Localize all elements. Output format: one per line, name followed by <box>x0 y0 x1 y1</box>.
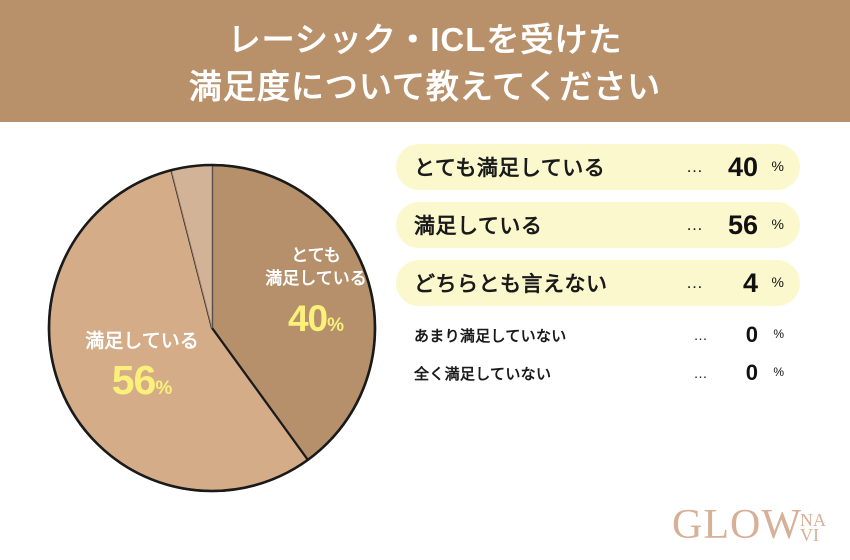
legend-label-neutral: どちらとも言えない <box>414 268 678 298</box>
legend-unit-very-satisfied: % <box>758 158 784 176</box>
pie-slices <box>49 165 375 491</box>
brand-logo-navi-mark: NA VI <box>800 513 826 543</box>
legend-unit-satisfied: % <box>758 216 784 234</box>
legend-unit-not-satisfied-at-all: % <box>758 365 784 381</box>
legend-value-very-satisfied: 40 <box>712 152 758 183</box>
legend-row-not-very-satisfied: あまり満足していない … 0 % <box>396 318 800 352</box>
brand-logo-navi-bottom: VI <box>800 528 826 543</box>
legend-dots-satisfied: … <box>678 215 712 235</box>
legend-label-very-satisfied: とても満足している <box>414 152 678 182</box>
legend-label-not-satisfied-at-all: 全く満足していない <box>414 363 684 384</box>
header-title-line1: レーシック・ICLを受けた <box>228 16 623 63</box>
header-banner: レーシック・ICLを受けた 満足度について教えてください <box>0 0 850 122</box>
legend-label-satisfied: 満足している <box>414 210 678 240</box>
legend-row-very-satisfied: とても満足している … 40 % <box>396 144 800 190</box>
legend-row-satisfied: 満足している … 56 % <box>396 202 800 248</box>
legend-row-neutral: どちらとも言えない … 4 % <box>396 260 800 306</box>
header-title-line2: 満足度について教えてください <box>189 63 661 110</box>
legend-list: とても満足している … 40 % 満足している … 56 % どちらとも言えない… <box>396 144 800 394</box>
brand-logo: GLOW NA VI <box>672 504 826 546</box>
pie-chart: とても 満足している 40% 満足している 56% <box>46 158 378 498</box>
legend-row-not-satisfied-at-all: 全く満足していない … 0 % <box>396 356 800 390</box>
legend-dots-not-satisfied-at-all: … <box>684 365 718 381</box>
brand-logo-wordmark: GLOW <box>672 504 802 546</box>
legend-value-not-satisfied-at-all: 0 <box>718 360 758 386</box>
legend-dots-neutral: … <box>678 273 712 293</box>
pie-chart-svg <box>46 158 378 498</box>
legend-unit-neutral: % <box>758 274 784 292</box>
legend-label-not-very-satisfied: あまり満足していない <box>414 325 684 346</box>
legend-dots-not-very-satisfied: … <box>684 327 718 343</box>
legend-value-neutral: 4 <box>712 268 758 299</box>
content-area: とても 満足している 40% 満足している 56% とても満足している … 40… <box>0 122 850 560</box>
legend-value-not-very-satisfied: 0 <box>718 322 758 348</box>
legend-value-satisfied: 56 <box>712 210 758 241</box>
legend-unit-not-very-satisfied: % <box>758 327 784 343</box>
legend-dots-very-satisfied: … <box>678 157 712 177</box>
